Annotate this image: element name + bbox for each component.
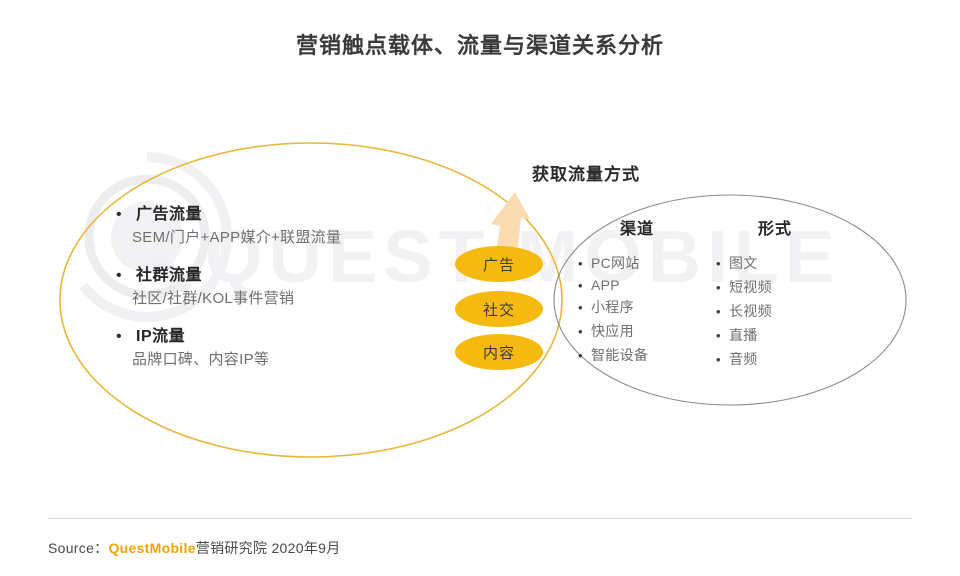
footer-divider	[48, 518, 912, 519]
bullet-icon: •	[716, 352, 729, 367]
bullet-icon: •	[716, 280, 729, 295]
flow-detail: 社区/社群/KOL事件营销	[132, 287, 410, 308]
column-channel: 渠道 •PC网站 •APP •小程序 •快应用 •智能设备	[578, 215, 696, 369]
pill-content: 内容	[455, 334, 543, 370]
bullet-icon: •	[716, 304, 729, 319]
list-item: •音频	[716, 349, 834, 369]
slide-canvas: QUEST MOBILE 营销触点载体、流量与渠道关系分析 • 广告流量 SEM…	[0, 0, 960, 576]
source-brand: QuestMobile	[108, 540, 195, 556]
format-list: •图文 •短视频 •长视频 •直播 •音频	[716, 253, 834, 369]
bullet-icon: •	[110, 329, 136, 345]
source-suffix: 营销研究院 2020年9月	[196, 538, 341, 558]
flow-detail: SEM/门户+APP媒介+联盟流量	[132, 226, 410, 247]
list-item: • IP流量	[110, 322, 410, 346]
flow-heading: 广告流量	[136, 200, 202, 224]
bullet-icon: •	[716, 328, 729, 343]
list-item: •快应用	[578, 321, 696, 341]
channel-list: •PC网站 •APP •小程序 •快应用 •智能设备	[578, 253, 696, 365]
left-circle-content: • 广告流量 SEM/门户+APP媒介+联盟流量 • 社群流量 社区/社群/KO…	[110, 200, 410, 383]
source-prefix: Source：	[48, 538, 108, 558]
list-item-label: 短视频	[729, 277, 772, 297]
center-label: 获取流量方式	[532, 160, 640, 185]
bullet-icon: •	[578, 300, 591, 315]
column-title: 渠道	[578, 215, 696, 239]
bullet-icon: •	[578, 278, 591, 293]
list-item-label: 小程序	[591, 297, 634, 317]
list-item-label: APP	[591, 277, 620, 293]
bullet-icon: •	[110, 207, 136, 223]
list-item: •短视频	[716, 277, 834, 297]
list-item-label: 直播	[729, 325, 758, 345]
list-item-label: 智能设备	[591, 345, 648, 365]
list-item: •智能设备	[578, 345, 696, 365]
list-item: •APP	[578, 277, 696, 293]
bullet-icon: •	[110, 268, 136, 284]
list-item-label: 图文	[729, 253, 758, 273]
flow-detail: 品牌口碑、内容IP等	[132, 348, 410, 369]
bullet-icon: •	[578, 324, 591, 339]
column-format: 形式 •图文 •短视频 •长视频 •直播 •音频	[716, 215, 834, 373]
column-title: 形式	[716, 215, 834, 239]
list-item: •直播	[716, 325, 834, 345]
list-item-label: PC网站	[591, 253, 640, 273]
pill-social: 社交	[455, 291, 543, 327]
list-item: •图文	[716, 253, 834, 273]
source-line: Source： QuestMobile 营销研究院 2020年9月	[48, 538, 341, 558]
list-item-label: 快应用	[591, 321, 634, 341]
list-item: •小程序	[578, 297, 696, 317]
list-item: •PC网站	[578, 253, 696, 273]
bullet-icon: •	[716, 256, 729, 271]
list-item: •长视频	[716, 301, 834, 321]
flow-heading: 社群流量	[136, 261, 202, 285]
list-item-label: 长视频	[729, 301, 772, 321]
list-item: • 广告流量	[110, 200, 410, 224]
bullet-icon: •	[578, 348, 591, 363]
list-item-label: 音频	[729, 349, 758, 369]
pill-advertising: 广告	[455, 246, 543, 282]
list-item: • 社群流量	[110, 261, 410, 285]
up-right-arrow-icon	[491, 192, 530, 247]
flow-heading: IP流量	[136, 322, 185, 346]
bullet-icon: •	[578, 256, 591, 271]
